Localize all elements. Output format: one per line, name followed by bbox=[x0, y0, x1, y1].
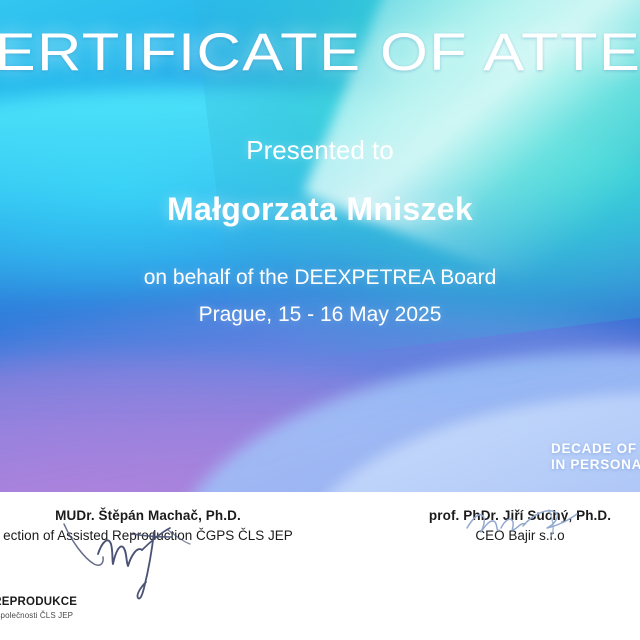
decade-badge: DECADE OF IN PERSONA bbox=[551, 441, 640, 473]
presented-to-label: Presented to bbox=[0, 135, 640, 166]
signatory-role-right: CEO Bajir s.r.o bbox=[400, 528, 640, 543]
society-logo-title: VANÉ REPRODUKCE bbox=[0, 596, 300, 608]
decade-badge-line2: IN PERSONA bbox=[551, 457, 640, 473]
signatory-name-left: MUDr. Štěpán Machač, Ph.D. bbox=[0, 508, 338, 523]
society-logo-subtitle: porodnické společnosti ČLS JEP bbox=[0, 611, 300, 620]
decade-badge-line1: DECADE OF bbox=[551, 441, 640, 457]
gradient-art-panel: CERTIFICATE OF ATTENDANCE Presented to M… bbox=[0, 0, 640, 492]
certificate-page: CERTIFICATE OF ATTENDANCE Presented to M… bbox=[0, 0, 640, 640]
society-logo: VANÉ REPRODUKCE porodnické společnosti Č… bbox=[0, 596, 300, 620]
board-line: on behalf of the DEEXPETREA Board bbox=[0, 266, 640, 290]
location-and-date: Prague, 15 - 16 May 2025 bbox=[0, 303, 640, 327]
certificate-title: CERTIFICATE OF ATTENDANCE bbox=[0, 22, 640, 83]
signature-block-right: prof. PhDr. Jiří Suchý, Ph.D. CEO Bajir … bbox=[400, 508, 640, 543]
signatory-name-right: prof. PhDr. Jiří Suchý, Ph.D. bbox=[400, 508, 640, 523]
signature-block-left: MUDr. Štěpán Machač, Ph.D. ection of Ass… bbox=[0, 508, 338, 543]
signatory-role-left: ection of Assisted Reproduction ČGPS ČLS… bbox=[0, 528, 338, 543]
recipient-name: Małgorzata Mniszek bbox=[0, 191, 640, 228]
